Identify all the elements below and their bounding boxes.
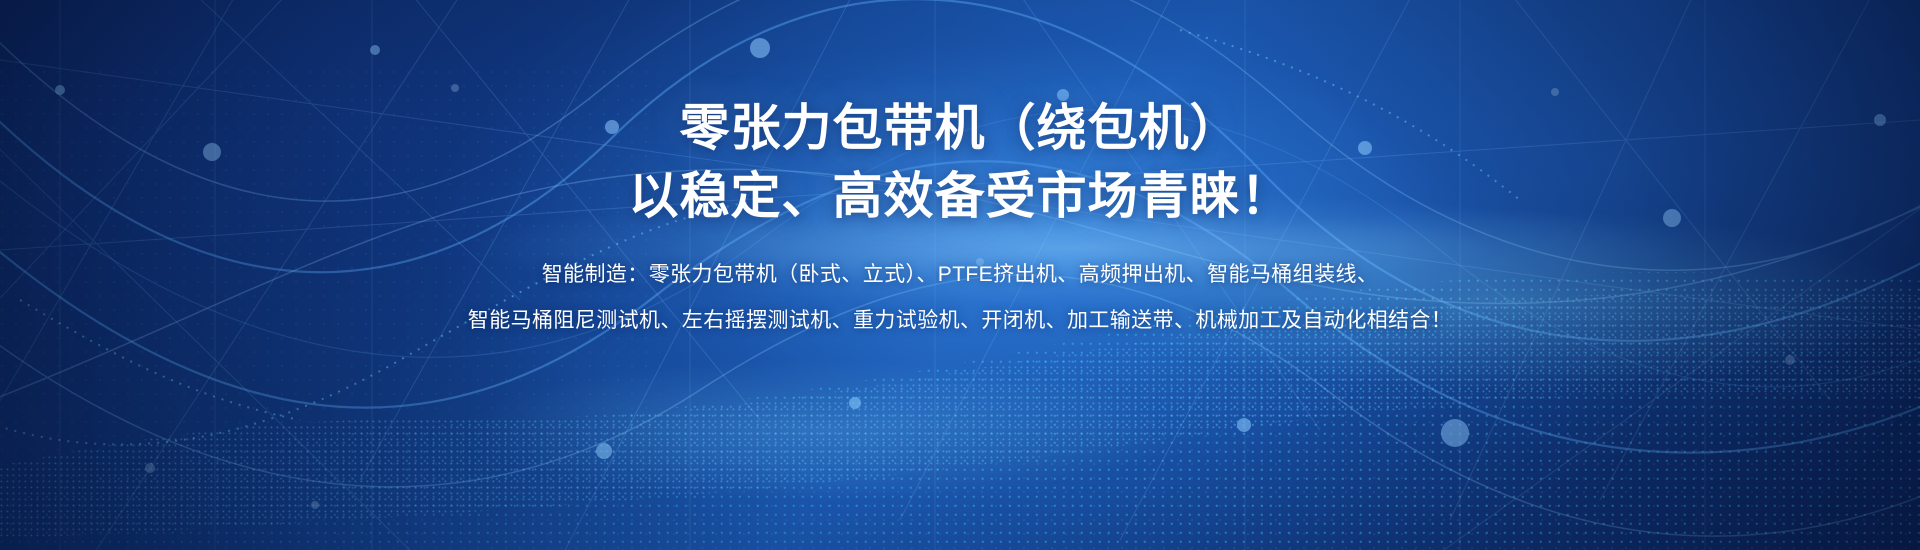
headline-line-1: 零张力包带机（绕包机）: [0, 94, 1920, 162]
banner-content: 零张力包带机（绕包机） 以稳定、高效备受市场青睐！ 智能制造：零张力包带机（卧式…: [0, 0, 1920, 344]
headline-line-2: 以稳定、高效备受市场青睐！: [0, 162, 1920, 230]
subtitle-line-1: 智能制造：零张力包带机（卧式、立式）、PTFE挤出机、高频押出机、智能马桶组装线…: [0, 252, 1920, 298]
subtitle-block: 智能制造：零张力包带机（卧式、立式）、PTFE挤出机、高频押出机、智能马桶组装线…: [0, 252, 1920, 344]
subtitle-line-2: 智能马桶阻尼测试机、左右摇摆测试机、重力试验机、开闭机、加工输送带、机械加工及自…: [0, 298, 1920, 344]
hero-banner: 零张力包带机（绕包机） 以稳定、高效备受市场青睐！ 智能制造：零张力包带机（卧式…: [0, 0, 1920, 550]
